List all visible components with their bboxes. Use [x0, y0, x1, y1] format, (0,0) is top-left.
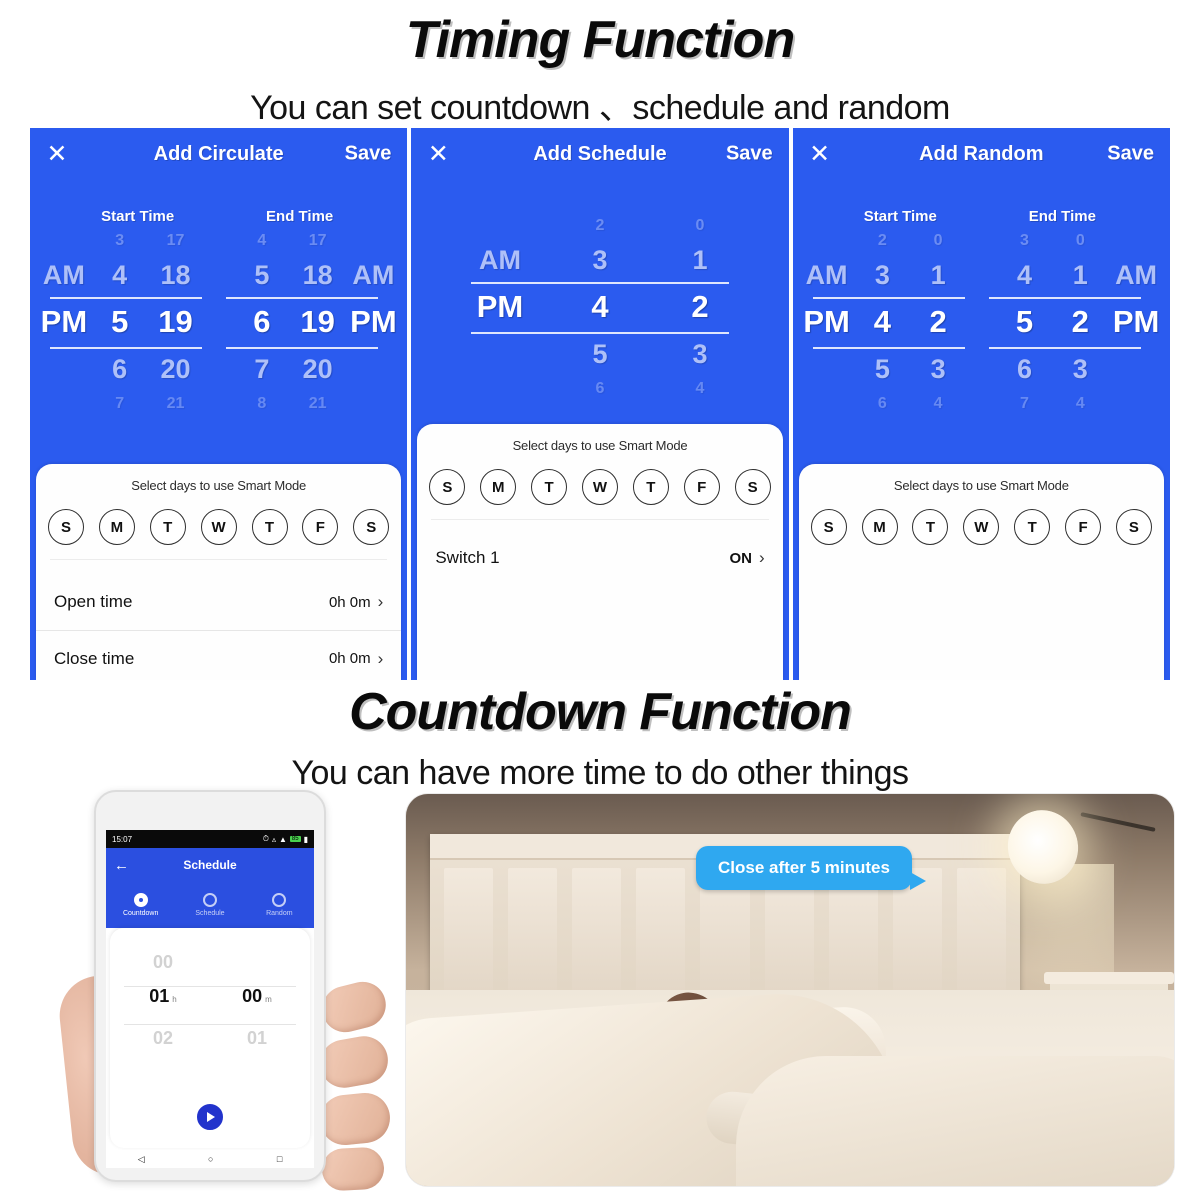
picker-cell-minute: 19	[290, 304, 346, 340]
open-time-value: 0h 0m	[329, 594, 371, 611]
switch-1-label: Switch 1	[435, 548, 499, 568]
picker-row-above[interactable]: AM 4 18 5 18 AM	[36, 253, 401, 297]
countdown-row-below[interactable]: 02 01	[110, 1028, 310, 1062]
tab-countdown[interactable]: Countdown	[106, 882, 175, 928]
play-icon	[207, 1112, 215, 1122]
tab-label: Random	[266, 910, 292, 917]
picker-cell-hour: 5	[550, 339, 650, 370]
android-nav-bar[interactable]: ◁ ○ □	[106, 1150, 314, 1168]
picker-cell-minute: 19	[148, 304, 204, 340]
countdown-hour-value: 01	[149, 986, 169, 1007]
picker-cell-minute: 1	[1052, 260, 1108, 291]
chevron-right-icon: ›	[378, 592, 384, 612]
picker-row-below[interactable]: 6 20 7 20	[36, 347, 401, 391]
sheet-note: Select days to use Smart Mode	[417, 424, 782, 453]
picker-cell-meridiem: AM	[799, 260, 855, 291]
picker-cell: 7	[997, 395, 1053, 413]
picker-cell: 2	[854, 232, 910, 250]
countdown-row-above[interactable]: 00	[110, 952, 310, 986]
picker-cell: 3	[997, 232, 1053, 250]
day-selector[interactable]: S M T W T F S	[799, 493, 1164, 545]
picker-cell-meridiem: AM	[36, 260, 92, 291]
phone-screen: 15:07 ⏱ ▵ ▲ 85 ▮ ← Schedule Countdown	[106, 830, 314, 1168]
smart-mode-sheet: Select days to use Smart Mode S M T W T …	[36, 464, 401, 680]
day-button-sun[interactable]: S	[811, 509, 847, 545]
picker-cell-hour: 4	[550, 289, 650, 325]
countdown-minute-value: 01	[247, 1028, 267, 1049]
picker-cell-hour: 6	[92, 354, 148, 385]
start-time-caption: Start Time	[68, 208, 208, 225]
app-bar-title: Schedule	[183, 858, 236, 872]
picker-row-selected[interactable]: PM 5 19 6 19 PM	[36, 297, 401, 347]
day-selector[interactable]: S M T W T F S	[417, 453, 782, 505]
save-button[interactable]: Save	[345, 143, 392, 166]
sheet-note: Select days to use Smart Mode	[799, 464, 1164, 493]
tab-bar[interactable]: Countdown Schedule Random	[106, 882, 314, 928]
countdown-hour-selected: 01 h	[137, 986, 189, 1007]
picker-cell-hour: 5	[854, 354, 910, 385]
picker-cell-hour: 5	[234, 260, 290, 291]
back-arrow-icon[interactable]: ←	[114, 857, 129, 874]
picker-row-faint-top: 2 0	[417, 214, 782, 238]
picker-row-below[interactable]: 5 3 6 3	[799, 347, 1164, 391]
battery-badge: 85	[290, 836, 301, 842]
battery-icon: ▮	[304, 835, 308, 844]
countdown-minute-value: 00	[242, 986, 262, 1007]
countdown-icon	[134, 893, 148, 907]
picker-cell: 2	[550, 217, 650, 235]
picker-cell-minute: 20	[290, 354, 346, 385]
day-button-thu[interactable]: T	[1014, 509, 1050, 545]
picker-cell-minute: 18	[290, 260, 346, 291]
switch-1-value-group[interactable]: ON ›	[729, 548, 764, 568]
day-button-mon[interactable]: M	[480, 469, 516, 505]
status-bar: 15:07 ⏱ ▵ ▲ 85 ▮	[106, 830, 314, 848]
picker-cell-meridiem: AM	[346, 260, 402, 291]
panel-header: ✕ Add Schedule Save	[411, 128, 788, 180]
close-icon[interactable]: ✕	[809, 143, 831, 165]
picker-cell-hour: 3	[550, 245, 650, 276]
nav-recent-icon[interactable]: □	[277, 1154, 282, 1164]
day-button-fri[interactable]: F	[684, 469, 720, 505]
picker-cell: 17	[148, 232, 204, 250]
chevron-right-icon: ›	[759, 548, 765, 568]
picker-cell-meridiem: PM	[1108, 304, 1164, 340]
random-icon	[272, 893, 286, 907]
picker-cell-meridiem: PM	[36, 304, 92, 340]
duvet-foot	[736, 1056, 1174, 1186]
close-time-label: Close time	[54, 649, 134, 669]
smart-mode-sheet: Select days to use Smart Mode S M T W T …	[799, 464, 1164, 680]
picker-row-faint-bottom: 6 4	[417, 376, 782, 402]
picker-row-above[interactable]: AM 3 1	[417, 238, 782, 282]
day-button-tue[interactable]: T	[150, 509, 186, 545]
schedule-icon	[203, 893, 217, 907]
smartphone: 15:07 ⏱ ▵ ▲ 85 ▮ ← Schedule Countdown	[94, 790, 326, 1182]
picker-cell-meridiem: AM	[1108, 260, 1164, 291]
picker-cell: 21	[148, 395, 204, 413]
picker-cell-minute: 2	[650, 289, 750, 325]
countdown-hour-below: 02	[137, 1028, 189, 1049]
time-picker[interactable]: 2 0 AM 3 1 PM 4 2 5 3 6 4	[411, 214, 788, 402]
picker-captions: Start Time End Time	[30, 208, 407, 225]
picker-cell: 6	[550, 380, 650, 398]
sheet-note: Select days to use Smart Mode	[36, 464, 401, 493]
tab-label: Schedule	[195, 910, 224, 917]
picker-cell-minute: 3	[910, 354, 966, 385]
countdown-card: 00 01 h 00 m	[110, 928, 310, 1148]
day-button-wed[interactable]: W	[963, 509, 999, 545]
nav-home-icon[interactable]: ○	[208, 1154, 213, 1164]
picker-cell: 6	[854, 395, 910, 413]
picker-cell-hour: 5	[997, 304, 1053, 340]
picker-row-faint-top: 2 0 3 0	[799, 229, 1164, 253]
timing-screens-row: ✕ Add Circulate Save Start Time End Time…	[30, 128, 1170, 680]
day-button-thu[interactable]: T	[252, 509, 288, 545]
save-button[interactable]: Save	[1107, 143, 1154, 166]
picker-cell: 7	[92, 395, 148, 413]
wifi-icon: ▵	[272, 835, 276, 844]
picker-cell: 3	[92, 232, 148, 250]
countdown-hour-value: 00	[153, 952, 173, 973]
picker-cell-minute: 2	[1052, 304, 1108, 340]
day-button-fri[interactable]: F	[302, 509, 338, 545]
end-time-caption: End Time	[230, 208, 370, 225]
countdown-function-subtitle: You can have more time to do other thing…	[0, 746, 1200, 793]
finger	[318, 1090, 393, 1147]
timing-function-subtitle: You can set countdown 、schedule and rand…	[0, 66, 1200, 137]
countdown-minute-selected: 00 m	[231, 986, 283, 1007]
bedroom-photo: Close after 5 minutes	[406, 794, 1174, 1186]
day-button-mon[interactable]: M	[99, 509, 135, 545]
picker-captions: Start Time End Time	[793, 208, 1170, 225]
countdown-function-title: Countdown Function	[0, 686, 1200, 738]
picker-cell-hour: 6	[997, 354, 1053, 385]
picker-cell-meridiem: PM	[450, 289, 550, 325]
picker-cell-minute: 1	[910, 260, 966, 291]
app-bar: ← Schedule	[106, 848, 314, 882]
page-title: Add Schedule	[533, 143, 666, 166]
page-title: Add Random	[919, 143, 1043, 166]
open-time-label: Open time	[54, 592, 132, 612]
divider	[124, 1024, 296, 1025]
day-button-tue[interactable]: T	[912, 509, 948, 545]
tab-schedule[interactable]: Schedule	[175, 882, 244, 928]
status-icons: ⏱ ▵ ▲ 85 ▮	[263, 834, 308, 844]
divider	[431, 519, 768, 520]
picker-cell-minute: 3	[650, 339, 750, 370]
end-time-caption: End Time	[992, 208, 1132, 225]
picker-cell: 0	[910, 232, 966, 250]
picker-row-above[interactable]: AM 3 1 4 1 AM	[799, 253, 1164, 297]
day-button-wed[interactable]: W	[201, 509, 237, 545]
start-countdown-button[interactable]	[197, 1104, 223, 1130]
picker-cell-minute: 20	[148, 354, 204, 385]
tab-random[interactable]: Random	[245, 882, 314, 928]
picker-cell: 4	[234, 232, 290, 250]
nightstand-top	[1044, 972, 1174, 984]
panel-add-circulate: ✕ Add Circulate Save Start Time End Time…	[30, 128, 407, 680]
speech-bubble: Close after 5 minutes	[696, 846, 912, 890]
picker-cell-minute: 1	[650, 245, 750, 276]
panel-header: ✕ Add Random Save	[793, 128, 1170, 180]
panel-add-random: ✕ Add Random Save Start Time End Time 2 …	[793, 128, 1170, 680]
smart-mode-sheet: Select days to use Smart Mode S M T W T …	[417, 424, 782, 680]
divider	[124, 986, 296, 987]
picker-cell: 4	[1052, 395, 1108, 413]
countdown-minute-unit: m	[265, 995, 272, 1004]
day-button-sun[interactable]: S	[429, 469, 465, 505]
switch-1-value: ON	[729, 550, 752, 567]
picker-cell-hour: 4	[92, 260, 148, 291]
picker-row-faint-bottom: 7 21 8 21	[36, 391, 401, 417]
chevron-right-icon: ›	[378, 649, 384, 669]
phone-in-hand-photo: 15:07 ⏱ ▵ ▲ 85 ▮ ← Schedule Countdown	[60, 788, 390, 1188]
picker-cell-minute: 18	[148, 260, 204, 291]
save-button[interactable]: Save	[726, 143, 773, 166]
picker-row-selected[interactable]: PM 4 2	[417, 282, 782, 332]
day-button-sat[interactable]: S	[735, 469, 771, 505]
timing-function-title: Timing Function	[0, 0, 1200, 66]
picker-row-selected[interactable]: PM 4 2 5 2 PM	[799, 297, 1164, 347]
countdown-picker[interactable]: 00 01 h 00 m	[110, 952, 310, 1070]
signal-icon: ▲	[279, 835, 287, 844]
picker-row-faint-bottom: 6 4 7 4	[799, 391, 1164, 417]
countdown-row-selected[interactable]: 01 h 00 m	[110, 986, 310, 1020]
day-button-fri[interactable]: F	[1065, 509, 1101, 545]
day-button-tue[interactable]: T	[531, 469, 567, 505]
panel-header: ✕ Add Circulate Save	[30, 128, 407, 180]
close-time-value: 0h 0m	[329, 650, 371, 667]
divider	[50, 559, 387, 560]
picker-cell-hour: 4	[997, 260, 1053, 291]
picker-cell: 4	[910, 395, 966, 413]
day-button-sun[interactable]: S	[48, 509, 84, 545]
close-icon[interactable]: ✕	[46, 143, 68, 165]
picker-cell: 21	[290, 395, 346, 413]
switch-1-row[interactable]: Switch 1 ON ›	[417, 530, 782, 586]
status-time: 15:07	[112, 835, 132, 844]
day-selector[interactable]: S M T W T F S	[36, 493, 401, 545]
picker-cell-meridiem: PM	[799, 304, 855, 340]
close-time-row[interactable]: Close time 0h 0m ›	[36, 630, 401, 680]
picker-cell-meridiem: PM	[346, 304, 402, 340]
picker-cell: 17	[290, 232, 346, 250]
picker-cell-minute: 3	[1052, 354, 1108, 385]
picker-cell-meridiem: AM	[450, 245, 550, 276]
countdown-hour-value: 02	[153, 1028, 173, 1049]
time-picker[interactable]: 2 0 3 0 AM 3 1 4 1 AM PM 4 2 5	[793, 229, 1170, 417]
countdown-hour-unit: h	[172, 995, 176, 1004]
close-icon[interactable]: ✕	[427, 143, 449, 165]
day-button-wed[interactable]: W	[582, 469, 618, 505]
panel-add-schedule: ✕ Add Schedule Save 2 0 AM 3 1 PM 4 2	[411, 128, 788, 680]
close-time-value-group[interactable]: 0h 0m ›	[329, 649, 383, 669]
picker-cell-minute: 2	[910, 304, 966, 340]
day-button-sat[interactable]: S	[1116, 509, 1152, 545]
picker-cell: 4	[650, 380, 750, 398]
finger	[317, 977, 390, 1037]
picker-cell-hour: 3	[854, 260, 910, 291]
picker-cell: 0	[1052, 232, 1108, 250]
open-time-row[interactable]: Open time 0h 0m ›	[36, 574, 401, 630]
picker-cell: 0	[650, 217, 750, 235]
nav-back-icon[interactable]: ◁	[138, 1154, 145, 1165]
picker-row-below[interactable]: 5 3	[417, 332, 782, 376]
start-time-caption: Start Time	[830, 208, 970, 225]
countdown-minute-below: 01	[231, 1028, 283, 1049]
picker-cell-hour: 4	[854, 304, 910, 340]
day-button-mon[interactable]: M	[862, 509, 898, 545]
picker-row-faint-top: 3 17 4 17	[36, 229, 401, 253]
finger	[316, 1032, 391, 1091]
open-time-value-group[interactable]: 0h 0m ›	[329, 592, 383, 612]
countdown-hour-above: 00	[137, 952, 189, 973]
day-button-sat[interactable]: S	[353, 509, 389, 545]
finger	[321, 1146, 385, 1191]
picker-cell-hour: 5	[92, 304, 148, 340]
tab-label: Countdown	[123, 910, 158, 917]
time-picker[interactable]: 3 17 4 17 AM 4 18 5 18 AM PM 5 19	[30, 229, 407, 417]
day-button-thu[interactable]: T	[633, 469, 669, 505]
picker-cell-hour: 7	[234, 354, 290, 385]
picker-cell-hour: 6	[234, 304, 290, 340]
alarm-icon: ⏱	[263, 834, 269, 844]
page-title: Add Circulate	[154, 143, 284, 166]
picker-cell: 8	[234, 395, 290, 413]
